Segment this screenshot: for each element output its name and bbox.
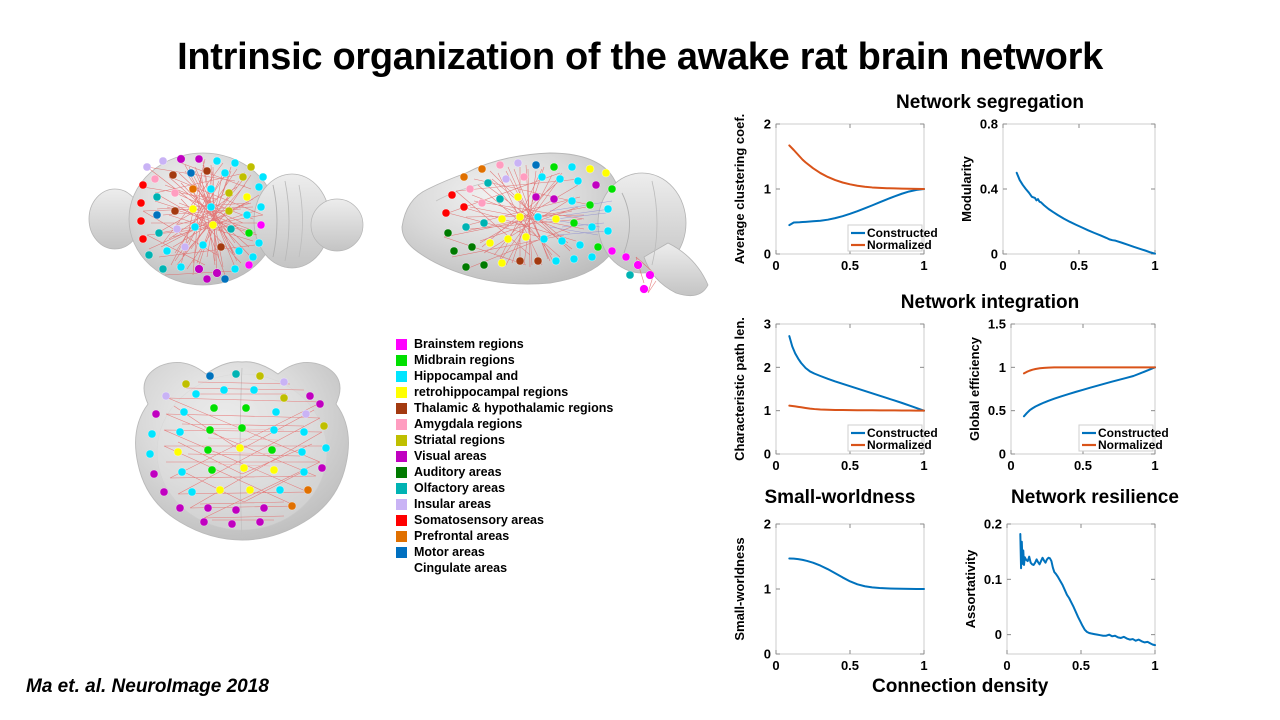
legend-color-swatch [396, 419, 407, 430]
legend-color-swatch [396, 531, 407, 542]
x-ticklabel: 0.5 [1070, 258, 1088, 273]
chart-legend-label: Normalized [1098, 438, 1163, 452]
chart-legend-label: Normalized [867, 438, 932, 452]
legend-item: Cingulate areas [396, 560, 666, 576]
y-ticklabel: 0.2 [984, 517, 1002, 532]
legend-color-swatch [396, 451, 407, 462]
legend-item: Visual areas [396, 448, 666, 464]
legend-item-label: Brainstem regions [414, 336, 524, 352]
y-ticklabel: 3 [764, 317, 771, 332]
legend-item-label: Olfactory areas [414, 480, 505, 496]
x-ticklabel: 0.5 [1072, 658, 1090, 673]
x-ticklabel: 0 [772, 458, 779, 473]
plot-frame [1007, 524, 1155, 654]
chart-global-efficiency: 00.5100.511.5Global efficiencyConstructe… [945, 314, 1167, 486]
global-efficiency-svg: 00.5100.511.5Global efficiencyConstructe… [945, 314, 1167, 486]
chart-assortativity: 00.5100.10.2Assortativity [945, 514, 1167, 686]
legend-color-swatch [396, 355, 407, 366]
y-ticklabel: 0 [764, 247, 771, 262]
legend-item-label: Insular areas [414, 496, 491, 512]
y-axis-title: Average clustering coef. [732, 114, 747, 265]
legend-color-swatch [396, 403, 407, 414]
chart-avg-clustering-coef: 00.51012Average clustering coef.Construc… [714, 114, 936, 286]
section-title-resilience: Network resilience [950, 487, 1240, 509]
x-ticklabel: 0 [1003, 658, 1010, 673]
characteristic-path-length-svg: 00.510123Characteristic path len.Constru… [714, 314, 936, 486]
brain-sagittal-view [400, 115, 720, 325]
legend-item: Brainstem regions [396, 336, 666, 352]
x-ticklabel: 1 [920, 658, 927, 673]
assortativity-svg: 00.5100.10.2Assortativity [945, 514, 1167, 686]
y-ticklabel: 0 [764, 447, 771, 462]
brain-region-legend: Brainstem regionsMidbrain regionsHippoca… [396, 336, 666, 576]
legend-item: Amygdala regions [396, 416, 666, 432]
avg-clustering-svg: 00.51012Average clustering coef.Construc… [714, 114, 936, 286]
section-title-segregation: Network segregation [760, 92, 1220, 114]
section-title-integration: Network integration [760, 292, 1220, 314]
legend-item: Olfactory areas [396, 480, 666, 496]
y-ticklabel: 1 [764, 182, 771, 197]
legend-color-swatch [396, 499, 407, 510]
y-ticklabel: 0.4 [980, 182, 999, 197]
small-worldness-svg: 00.51012Small-worldness [714, 514, 936, 686]
y-ticklabel: 1 [999, 360, 1006, 375]
x-ticklabel: 0 [1007, 458, 1014, 473]
x-ticklabel: 1 [920, 458, 927, 473]
y-ticklabel: 1.5 [988, 317, 1006, 332]
x-ticklabel: 1 [1151, 658, 1158, 673]
legend-item-label: Thalamic & hypothalamic regions [414, 400, 613, 416]
legend-item: Thalamic & hypothalamic regions [396, 400, 666, 416]
brain-coronal-view [108, 342, 378, 547]
x-ticklabel: 1 [1151, 258, 1158, 273]
x-ticklabel: 0 [772, 658, 779, 673]
brain-dorsal-view [85, 115, 390, 325]
legend-item: Somatosensory areas [396, 512, 666, 528]
legend-item: Hippocampal and [396, 368, 666, 384]
legend-color-swatch [396, 515, 407, 526]
y-ticklabel: 0 [999, 447, 1006, 462]
chart-characteristic-path-length: 00.510123Characteristic path len.Constru… [714, 314, 936, 486]
y-axis-title: Global efficiency [967, 336, 982, 441]
x-ticklabel: 1 [920, 258, 927, 273]
legend-item-label: Somatosensory areas [414, 512, 544, 528]
legend-item: retrohippocampal regions [396, 384, 666, 400]
legend-item-label: Striatal regions [414, 432, 505, 448]
y-ticklabel: 0.8 [980, 117, 998, 132]
legend-item: Insular areas [396, 496, 666, 512]
legend-item-label: Auditory areas [414, 464, 502, 480]
x-ticklabel: 0 [772, 258, 779, 273]
chart-legend-label: Normalized [867, 238, 932, 252]
legend-color-swatch [396, 339, 407, 350]
y-axis-title: Small-worldness [732, 537, 747, 640]
chart-modularity: 00.5100.40.8Modularity [945, 114, 1167, 286]
legend-item: Auditory areas [396, 464, 666, 480]
legend-item: Motor areas [396, 544, 666, 560]
legend-item-label: Visual areas [414, 448, 487, 464]
legend-color-swatch [396, 467, 407, 478]
legend-item-label: Amygdala regions [414, 416, 522, 432]
y-axis-title: Characteristic path len. [732, 317, 747, 461]
y-ticklabel: 0 [991, 247, 998, 262]
y-ticklabel: 1 [764, 582, 771, 597]
y-axis-title: Assortativity [963, 549, 978, 629]
metrics-charts-area: Network segregation Network integration … [700, 92, 1280, 720]
legend-item: Prefrontal areas [396, 528, 666, 544]
y-ticklabel: 0.1 [984, 572, 1002, 587]
legend-item-label: Cingulate areas [414, 560, 507, 576]
legend-color-swatch [396, 387, 407, 398]
legend-color-swatch [396, 563, 407, 574]
x-ticklabel: 0.5 [841, 458, 859, 473]
x-ticklabel: 0.5 [1074, 458, 1092, 473]
y-axis-title: Modularity [959, 155, 974, 221]
y-ticklabel: 2 [764, 117, 771, 132]
y-ticklabel: 0.5 [988, 403, 1006, 418]
legend-color-swatch [396, 547, 407, 558]
legend-color-swatch [396, 371, 407, 382]
legend-item-label: retrohippocampal regions [414, 384, 568, 400]
legend-item-label: Prefrontal areas [414, 528, 509, 544]
y-ticklabel: 1 [764, 403, 771, 418]
brain-outline-sagittal [402, 153, 708, 296]
y-ticklabel: 2 [764, 360, 771, 375]
y-ticklabel: 2 [764, 517, 771, 532]
x-ticklabel: 0 [999, 258, 1006, 273]
modularity-svg: 00.5100.40.8Modularity [945, 114, 1167, 286]
legend-item: Midbrain regions [396, 352, 666, 368]
legend-item-label: Hippocampal and [414, 368, 518, 384]
xaxis-label-connection-density: Connection density [872, 676, 1048, 698]
legend-item-label: Motor areas [414, 544, 485, 560]
y-ticklabel: 0 [764, 647, 771, 662]
x-ticklabel: 1 [1151, 458, 1158, 473]
page-title: Intrinsic organization of the awake rat … [0, 36, 1280, 79]
legend-item-label: Midbrain regions [414, 352, 515, 368]
legend-item: Striatal regions [396, 432, 666, 448]
x-ticklabel: 0.5 [841, 658, 859, 673]
y-ticklabel: 0 [995, 627, 1002, 642]
chart-small-worldness: 00.51012Small-worldness [714, 514, 936, 686]
x-ticklabel: 0.5 [841, 258, 859, 273]
legend-color-swatch [396, 483, 407, 494]
citation-text: Ma et. al. NeuroImage 2018 [26, 676, 269, 698]
section-title-smallworldness: Small-worldness [720, 487, 960, 509]
legend-color-swatch [396, 435, 407, 446]
